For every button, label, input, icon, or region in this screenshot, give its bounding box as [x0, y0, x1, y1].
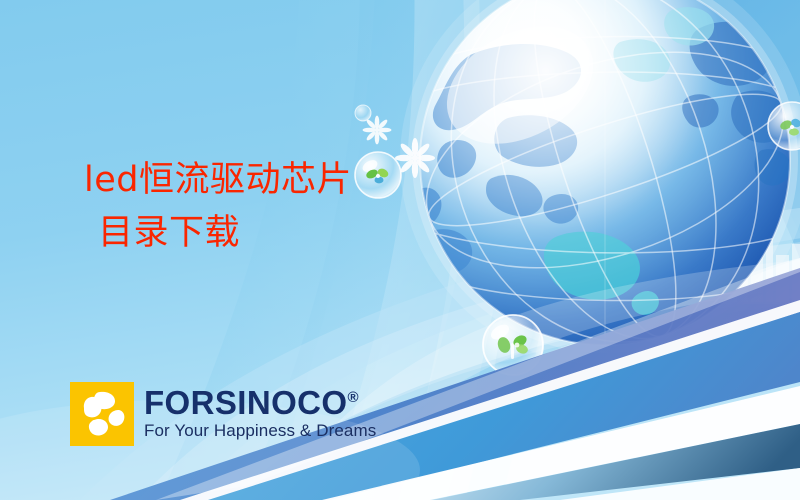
logo-text: FORSINOCO® For Your Happiness & Dreams [144, 382, 376, 439]
headline-line-1: led恒流驱动芯片 [84, 163, 464, 198]
company-logo[interactable]: FORSINOCO® For Your Happiness & Dreams [70, 382, 376, 446]
logo-wordmark-text: FORSINOCO [144, 384, 347, 421]
logo-wordmark: FORSINOCO® [144, 386, 376, 419]
headline-text: led恒流驱动芯片 目录下载 [84, 163, 464, 251]
four-petal-pinwheel-icon [70, 382, 134, 446]
bubble-icon [355, 105, 371, 121]
registered-trademark-icon: ® [347, 389, 358, 406]
banner-image: led恒流驱动芯片 目录下载 FORSINOCO® For Your Happi… [0, 0, 800, 500]
logo-tagline: For Your Happiness & Dreams [144, 422, 376, 439]
headline-line-2: 目录下载 [84, 216, 464, 251]
